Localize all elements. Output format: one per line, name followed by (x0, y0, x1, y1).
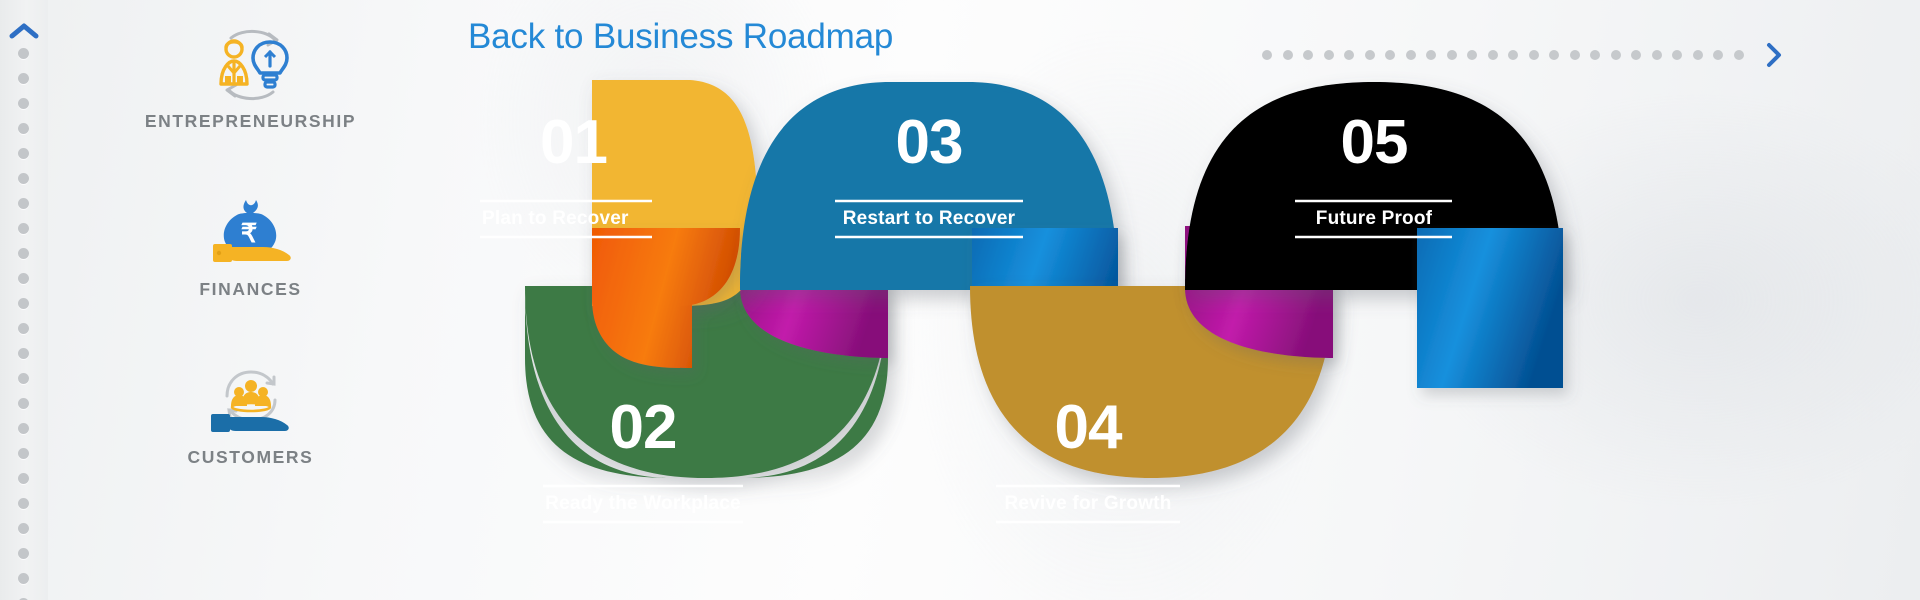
step-number: 04 (1055, 393, 1123, 462)
rail-dot[interactable] (18, 398, 29, 409)
rail-dot[interactable] (18, 273, 29, 284)
sidebar-item-label: FINANCES (48, 279, 453, 300)
rail-dot[interactable] (18, 248, 29, 259)
step-caption: Ready the Workplace (545, 493, 741, 514)
entrepreneur-lightbulb-cycle-icon (48, 24, 453, 106)
sidebar-nav: ENTREPRENEURSHIP ₹ FINANCES (48, 0, 453, 600)
rail-dot[interactable] (18, 473, 29, 484)
rail-dot[interactable] (18, 173, 29, 184)
step-number: 02 (610, 393, 677, 462)
rail-dot[interactable] (18, 148, 29, 159)
rail-dot[interactable] (18, 48, 29, 59)
step-caption: Future Proof (1316, 208, 1433, 229)
rail-dot[interactable] (18, 498, 29, 509)
rail-dot[interactable] (18, 298, 29, 309)
rail-dot-list[interactable] (18, 48, 30, 600)
rail-dot[interactable] (18, 448, 29, 459)
step-number: 05 (1341, 108, 1408, 177)
chevron-up-icon[interactable] (9, 22, 39, 40)
customers-group-in-hand-icon (48, 360, 453, 442)
rail-dot[interactable] (18, 523, 29, 534)
step-number: 01 (540, 108, 607, 177)
sidebar-item-customers[interactable]: CUSTOMERS (48, 360, 453, 468)
roadmap-diagram: 01 Plan to Recover 02 Ready the Workplac… (440, 58, 1840, 558)
step-caption: Restart to Recover (843, 208, 1016, 229)
rail-dot[interactable] (18, 73, 29, 84)
page-title: Back to Business Roadmap (468, 17, 893, 57)
step-caption: Plan to Recover (482, 208, 629, 229)
money-bag-rupee-in-hand-icon: ₹ (48, 192, 453, 274)
svg-text:₹: ₹ (240, 218, 257, 248)
rail-dot[interactable] (18, 373, 29, 384)
rail-dot[interactable] (18, 573, 29, 584)
rail-dot[interactable] (18, 198, 29, 209)
sidebar-item-label: CUSTOMERS (48, 447, 453, 468)
step-caption: Revive for Growth (1004, 493, 1171, 514)
rail-dot[interactable] (18, 548, 29, 559)
rail-dot[interactable] (18, 348, 29, 359)
roadmap-step-05-fold (1417, 228, 1563, 388)
rail-dot[interactable] (18, 123, 29, 134)
sidebar-item-finances[interactable]: ₹ FINANCES (48, 192, 453, 300)
sidebar-item-entrepreneurship[interactable]: ENTREPRENEURSHIP (48, 24, 453, 132)
step-number: 03 (896, 108, 963, 177)
sidebar-item-label: ENTREPRENEURSHIP (48, 111, 453, 132)
rail-dot[interactable] (18, 323, 29, 334)
rail-dot[interactable] (18, 423, 29, 434)
rail-dot[interactable] (18, 98, 29, 109)
left-scroll-rail[interactable] (0, 0, 48, 600)
rail-dot[interactable] (18, 223, 29, 234)
